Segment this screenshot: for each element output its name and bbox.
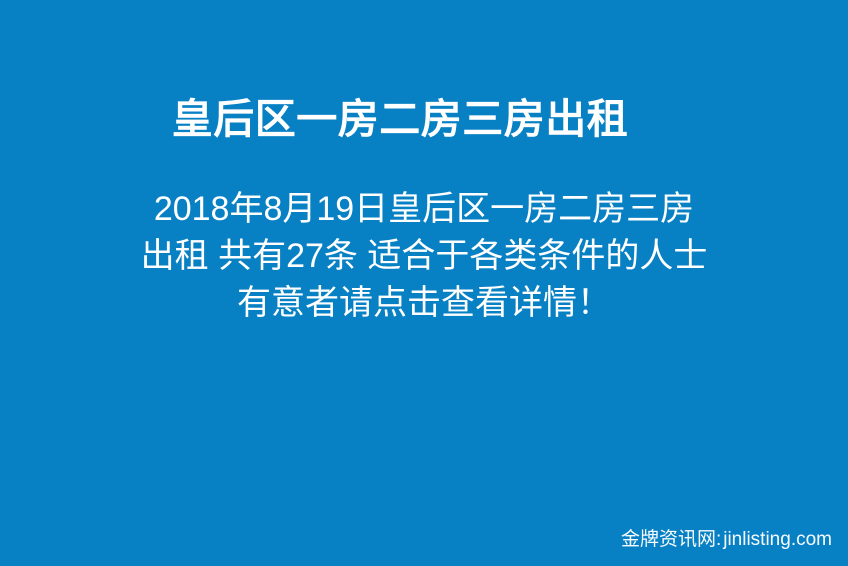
watermark-domain: jinlisting.com: [723, 529, 832, 550]
body-line-2: 出租 共有27条 适合于各类条件的人士: [0, 233, 848, 280]
body-line-1: 2018年8月19日皇后区一房二房三房: [0, 186, 848, 233]
page-title: 皇后区一房二房三房出租: [0, 95, 800, 144]
body-copy: 2018年8月19日皇后区一房二房三房 出租 共有27条 适合于各类条件的人士 …: [0, 186, 848, 327]
watermark-separator: :: [716, 529, 721, 550]
body-line-3-call-to-action: 有意者请点击查看详情！: [0, 280, 848, 327]
watermark-site-name: 金牌资讯网: [621, 529, 716, 550]
watermark: 金牌资讯网:jinlisting.com: [621, 529, 832, 552]
poster-canvas: 皇后区一房二房三房出租 2018年8月19日皇后区一房二房三房 出租 共有27条…: [0, 0, 848, 566]
